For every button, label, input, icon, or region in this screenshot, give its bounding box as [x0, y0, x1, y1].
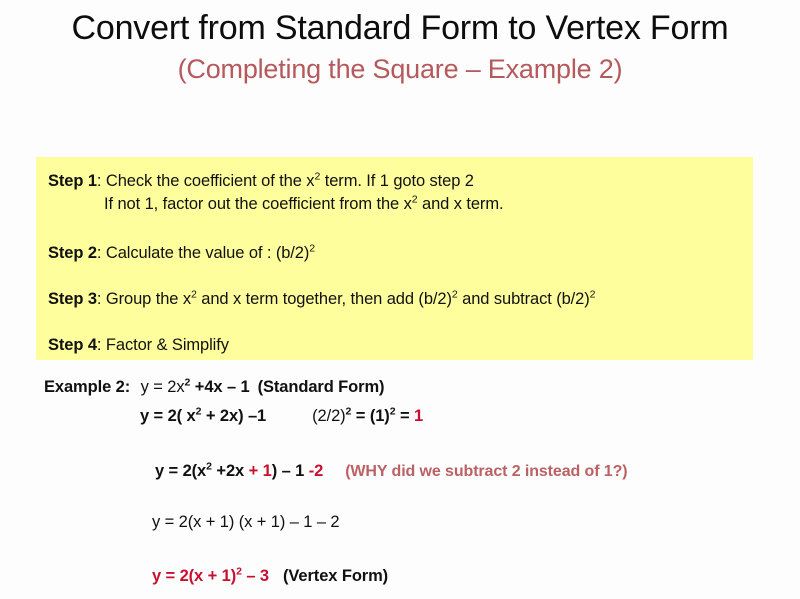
vertex-form-label: (Vertex Form) [283, 567, 388, 585]
steps-panel: Step 1: Check the coefficient of the x2 … [36, 157, 753, 360]
example-line3-expr-a: y = 2(x [155, 462, 206, 480]
example-line1-expr-b: +4x – 1 [190, 378, 249, 396]
example-label: Example 2 [44, 378, 125, 396]
step-4-line: Step 4: Factor & Simplify [48, 335, 739, 356]
step-4-label: Step 4 [48, 336, 97, 354]
example-line4-expr: y = 2(x + 1) (x + 1) – 1 – 2 [152, 513, 340, 531]
step-3-colon: : [97, 290, 101, 308]
example-line-2: y = 2( x2 + 2x) –1(2/2)2 = (1)2 = 1 [140, 407, 800, 426]
step-2-text-a: Calculate the value of : (b/2) [106, 244, 309, 262]
example-line1-expr-a: y = 2x [141, 378, 185, 396]
example-line5-expr-a: y = 2(x + 1) [152, 567, 236, 585]
step-3-label: Step 3 [48, 290, 97, 308]
step-1-line-2: If not 1, factor out the coefficient fro… [104, 194, 739, 215]
slide-canvas: Convert from Standard Form to Vertex For… [0, 0, 800, 599]
step-3-text-b: and x term together, then add (b/2) [197, 290, 452, 308]
step-1-label: Step 1 [48, 172, 97, 190]
example-line2-calc-b: = (1) [351, 407, 389, 425]
step-1-colon: : [97, 172, 101, 190]
step-4-text-a: Factor & Simplify [106, 336, 229, 354]
step-4-colon: : [97, 336, 101, 354]
why-annotation: (WHY did we subtract 2 instead of 1?) [345, 463, 627, 480]
page-subtitle: (Completing the Square – Example 2) [0, 53, 800, 85]
step-3-line: Step 3: Group the x2 and x term together… [48, 289, 739, 310]
step-2-label: Step 2 [48, 244, 97, 262]
example-line3-minus-two: -2 [309, 462, 323, 480]
step-2-colon: : [97, 244, 101, 262]
page-title: Convert from Standard Form to Vertex For… [0, 8, 800, 49]
example-colon: : [125, 378, 130, 396]
step-2-line: Step 2: Calculate the value of : (b/2)2 [48, 243, 739, 264]
step-1-line: Step 1: Check the coefficient of the x2 … [48, 171, 739, 192]
example-line2-result: 1 [414, 407, 423, 425]
standard-form-label: (Standard Form) [258, 378, 385, 396]
example-line3-expr-b: +2x [212, 462, 249, 480]
step-3-text-c: and subtract (b/2) [458, 290, 590, 308]
example-line-1: Example 2: y = 2x2 +4x – 1(Standard Form… [44, 378, 800, 397]
title-block: Convert from Standard Form to Vertex For… [0, 8, 800, 86]
example-block: Example 2: y = 2x2 +4x – 1(Standard Form… [0, 378, 800, 586]
step-3-text-a: Group the x [106, 290, 191, 308]
example-line-3: y = 2(x2 +2x + 1) – 1 -2(WHY did we subt… [155, 462, 800, 481]
example-line2-expr-b: + 2x) –1 [201, 407, 266, 425]
example-line-4: y = 2(x + 1) (x + 1) – 1 – 2 [152, 513, 800, 532]
step-1-line2-b: and x term. [418, 195, 504, 213]
step-1-text-b: term. If 1 goto step 2 [320, 172, 474, 190]
step-2-sup-a: 2 [309, 243, 315, 255]
example-line2-calc-c: = [395, 407, 414, 425]
example-line3-plus-one: + 1 [249, 462, 272, 480]
step-3-sup-c: 2 [590, 289, 596, 301]
example-line2-expr-a: y = 2( x [140, 407, 196, 425]
example-line5-expr-b: – 3 [242, 567, 269, 585]
example-line-5: y = 2(x + 1)2 – 3(Vertex Form) [152, 567, 800, 586]
step-1-line2-a: If not 1, factor out the coefficient fro… [104, 195, 412, 213]
example-line2-calc-a: (2/2) [312, 407, 345, 425]
step-1-text-a: Check the coefficient of the x [106, 172, 315, 190]
example-line3-expr-c: ) – 1 [272, 462, 309, 480]
